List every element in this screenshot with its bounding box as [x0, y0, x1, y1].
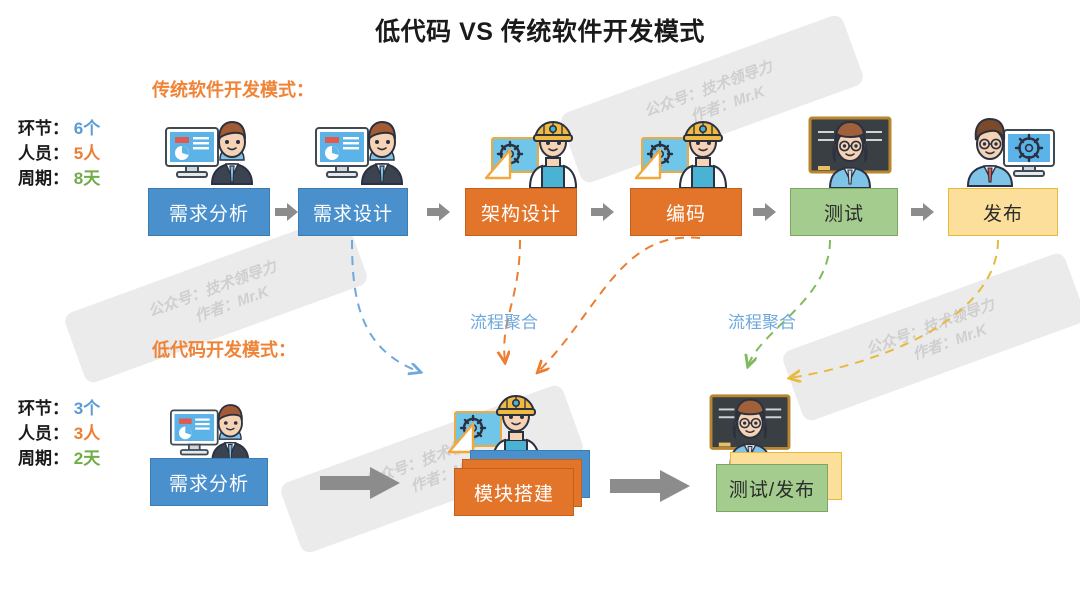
analyst-monitor-icon — [310, 112, 420, 192]
stats-key: 环节： — [18, 399, 69, 418]
lowcode-box-module-assembly[interactable]: 模块搭建 — [454, 468, 574, 516]
section-label-lowcode: 低代码开发模式： — [152, 336, 296, 362]
analyst-monitor-icon — [160, 112, 270, 192]
stats-value: 3人 — [74, 424, 100, 443]
grey-chevron-arrow-icon — [910, 200, 936, 226]
lowcode-release-stack[interactable]: 测试/发布 — [710, 450, 860, 520]
grey-chevron-arrow-icon — [590, 200, 616, 226]
grey-block-arrow-icon — [608, 468, 692, 509]
stats-value: 3个 — [74, 399, 100, 418]
watermark-line1: 公众号：技术领导力 — [863, 294, 997, 360]
grey-chevron-arrow-icon — [752, 200, 778, 226]
stats-key: 人员： — [18, 144, 69, 163]
stats-row: 环节： 3个 — [18, 396, 100, 421]
watermark-line2: 作者：Mr.K — [910, 319, 990, 365]
process-box-requirement-design[interactable]: 需求设计 — [298, 188, 408, 236]
stats-value: 5人 — [74, 144, 100, 163]
stats-value: 6个 — [74, 119, 100, 138]
stats-row: 人员： 5人 — [18, 141, 100, 166]
stats-row: 周期： 2天 — [18, 446, 100, 471]
watermark-line2: 作者：Mr.K — [192, 281, 272, 327]
engineer-gears-icon — [630, 108, 742, 192]
stats-key: 环节： — [18, 119, 69, 138]
stats-key: 周期： — [18, 449, 69, 468]
lowcode-module-stack[interactable]: 模块搭建 — [440, 450, 600, 520]
grey-chevron-arrow-icon — [426, 200, 452, 226]
grey-chevron-arrow-icon — [274, 200, 300, 226]
lowcode-box-requirement-analysis[interactable]: 需求分析 — [150, 458, 268, 506]
page-title: 低代码 VS 传统软件开发模式 — [0, 12, 1080, 48]
tester-blackboard-icon — [800, 110, 900, 190]
lowcode-box-test-release[interactable]: 测试/发布 — [716, 464, 828, 512]
process-box-architecture-design[interactable]: 架构设计 — [465, 188, 577, 236]
diagram-canvas: 公众号：技术领导力 作者：Mr.K 公众号：技术领导力 作者：Mr.K 公众号：… — [0, 0, 1080, 594]
connector-yellow — [790, 240, 998, 378]
stats-row: 环节： 6个 — [18, 116, 100, 141]
grey-block-arrow-icon — [318, 465, 402, 506]
aggregation-label-left: 流程聚合 — [470, 308, 538, 333]
watermark-line1: 公众号：技术领导力 — [145, 256, 279, 322]
stats-key: 人员： — [18, 424, 69, 443]
connector-green — [748, 240, 830, 366]
watermark-mid-right: 公众号：技术领导力 作者：Mr.K — [780, 251, 1080, 423]
connector-orange-1 — [504, 240, 520, 362]
engineer-gears-icon — [480, 108, 592, 192]
stats-lowcode: 环节： 3个 人员： 3人 周期： 2天 — [18, 396, 100, 471]
stats-value: 8天 — [74, 169, 100, 188]
stats-key: 周期： — [18, 169, 69, 188]
process-box-testing[interactable]: 测试 — [790, 188, 898, 236]
process-box-requirement-analysis[interactable]: 需求分析 — [148, 188, 270, 236]
section-label-traditional: 传统软件开发模式： — [152, 76, 314, 102]
stats-row: 人员： 3人 — [18, 421, 100, 446]
connector-blue — [352, 240, 420, 372]
process-box-release[interactable]: 发布 — [948, 188, 1058, 236]
process-box-coding[interactable]: 编码 — [630, 188, 742, 236]
stats-value: 2天 — [74, 449, 100, 468]
stats-row: 周期： 8天 — [18, 166, 100, 191]
aggregation-label-right: 流程聚合 — [728, 308, 796, 333]
stats-traditional: 环节： 6个 人员： 5人 周期： 8天 — [18, 116, 100, 191]
connector-orange-2 — [538, 237, 700, 372]
devops-monitor-gear-icon — [952, 110, 1062, 190]
